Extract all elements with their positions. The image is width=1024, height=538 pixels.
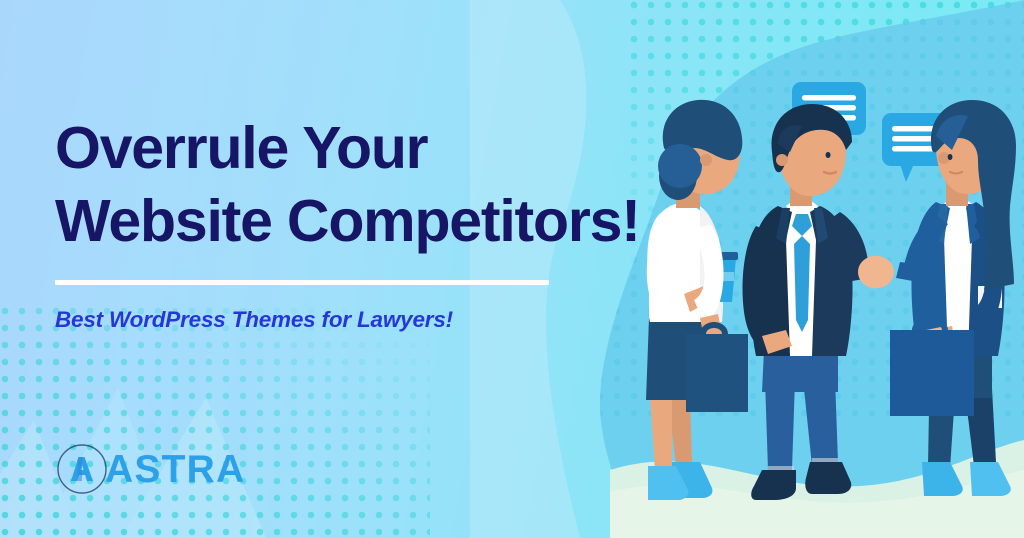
astra-a-mark-icon bbox=[56, 443, 108, 495]
briefcase-right bbox=[890, 318, 974, 416]
subtitle: Best WordPress Themes for Lawyers! bbox=[55, 307, 665, 333]
astra-promo-banner: Overrule Your Website Competitors! Best … bbox=[0, 0, 1024, 538]
page-title: Overrule Your Website Competitors! bbox=[55, 112, 665, 257]
title-divider bbox=[55, 280, 549, 285]
headline-block: Overrule Your Website Competitors! Best … bbox=[55, 112, 665, 333]
astra-logo[interactable]: ASTRA bbox=[56, 443, 245, 495]
briefcase-left bbox=[686, 322, 748, 412]
figure-man-center bbox=[743, 104, 895, 500]
astra-wordmark: ASTRA bbox=[105, 450, 245, 489]
